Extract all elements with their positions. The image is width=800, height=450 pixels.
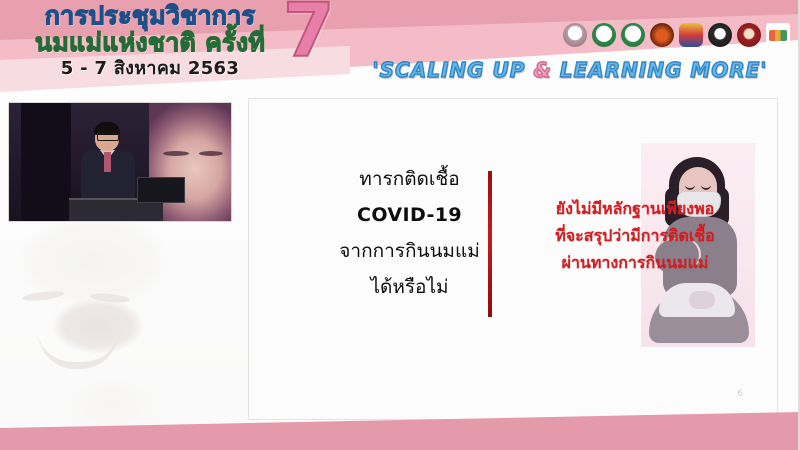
tagline-part1: 'SCALING UP xyxy=(373,58,534,82)
video-laptop xyxy=(137,177,185,203)
thaihealth-sss-logo xyxy=(766,23,790,47)
tagline-part2: LEARNING MORE' xyxy=(552,58,768,82)
answer-line-3: ผ่านทางการกินนมแม่ xyxy=(501,249,769,276)
slide-stage: การประชุมวิชาการ นมแม่แห่งชาติ ครั้งที่ … xyxy=(0,0,800,450)
speaker-webcam-feed[interactable] xyxy=(8,102,232,222)
thai-pediatric-society-logo xyxy=(650,23,674,47)
red-vertical-divider xyxy=(488,171,492,317)
royal-college-logo xyxy=(679,23,703,47)
question-line-2: COVID-19 xyxy=(307,197,512,233)
royal-emblem-logo xyxy=(563,23,587,47)
sponsor-logo-row xyxy=(563,23,790,47)
slide-number: 6 xyxy=(737,389,743,399)
conference-title: การประชุมวิชาการ นมแม่แห่งชาติ ครั้งที่ … xyxy=(0,2,300,81)
illustration-hand xyxy=(689,291,715,309)
ministry-of-public-health-logo xyxy=(592,23,616,47)
answer-line-2: ที่จะสรุปว่ามีการติดเชื้อ xyxy=(501,222,769,249)
red-shield-institute-logo xyxy=(737,23,761,47)
answer-line-1: ยังไม่มีหลักฐานเพียงพอ xyxy=(501,195,769,222)
conference-title-line1: การประชุมวิชาการ xyxy=(0,2,300,29)
answer-text-block: ยังไม่มีหลักฐานเพียงพอ ที่จะสรุปว่ามีการ… xyxy=(501,195,769,276)
background-child-photo xyxy=(0,208,262,440)
department-of-health-logo xyxy=(621,23,645,47)
slide-content-card: ทารกติดเชื้อ COVID-19 จากการกินนมแม่ ได้… xyxy=(248,98,778,420)
background-child-smile xyxy=(38,332,118,369)
video-speaker-glasses xyxy=(97,133,119,141)
video-wall-panel xyxy=(21,103,71,221)
video-speaker-tie xyxy=(104,152,111,172)
conference-title-line2: นมแม่แห่งชาติ ครั้งที่ xyxy=(0,29,300,57)
tagline-ampersand: & xyxy=(533,58,551,82)
conference-edition-number: 7 xyxy=(283,0,335,68)
question-line-3: จากการกินนมแม่ xyxy=(307,233,512,269)
conference-tagline: 'SCALING UP & LEARNING MORE' xyxy=(355,58,785,82)
question-line-1: ทารกติดเชื้อ xyxy=(307,161,512,197)
national-emblem-logo xyxy=(708,23,732,47)
conference-date: 5 - 7 สิงหาคม 2563 xyxy=(0,57,300,81)
question-line-4: ได้หรือไม่ xyxy=(307,269,512,305)
question-text-block: ทารกติดเชื้อ COVID-19 จากการกินนมแม่ ได้… xyxy=(307,161,512,305)
